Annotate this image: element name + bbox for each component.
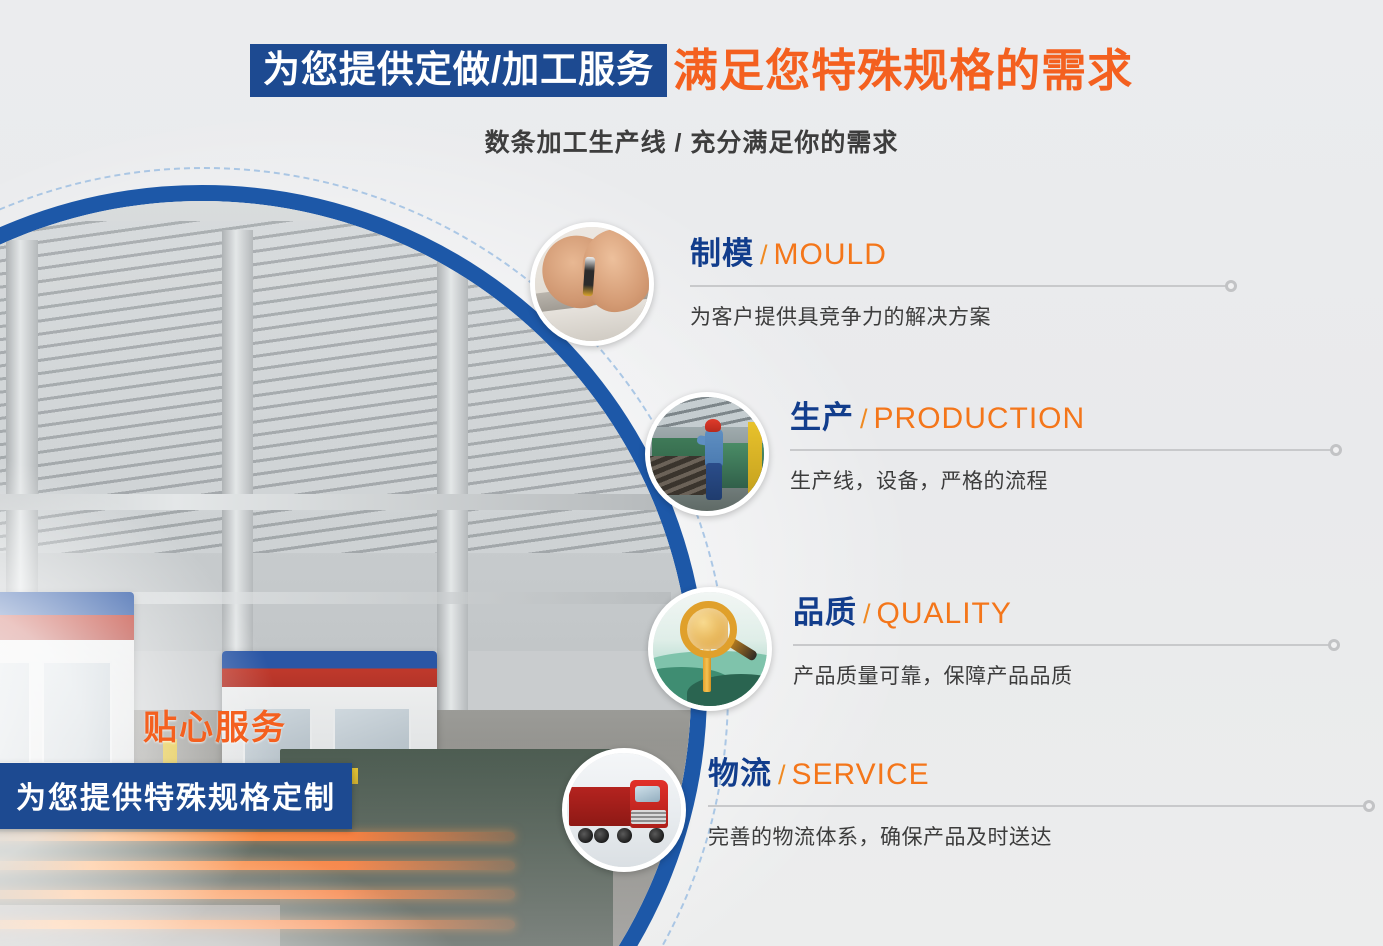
feature-title-cn: 物流 xyxy=(708,756,772,791)
thumb-shape xyxy=(748,422,762,493)
feature-heading: 生产/PRODUCTION xyxy=(790,402,1335,434)
feature-description: 为客户提供具竞争力的解决方案 xyxy=(690,301,1230,331)
feature-divider xyxy=(790,449,1335,451)
feature-heading: 品质/QUALITY xyxy=(793,597,1333,629)
feature-separator: / xyxy=(857,599,877,629)
factory-worker-icon xyxy=(645,392,769,516)
thumb-shape xyxy=(649,828,664,843)
feature-separator: / xyxy=(772,760,792,790)
thumb-shape xyxy=(706,463,722,499)
feature-separator: / xyxy=(854,404,874,434)
feature-title-cn: 品质 xyxy=(793,595,857,630)
thumb-shape xyxy=(569,787,632,826)
thumb-shape xyxy=(687,674,772,711)
feature-heading: 物流/SERVICE xyxy=(708,758,1368,790)
divider-end-dot-icon xyxy=(1225,280,1237,292)
feature-title-en: MOULD xyxy=(774,238,887,271)
feature-heading: 制模/MOULD xyxy=(690,238,1230,270)
feature-description: 生产线，设备，严格的流程 xyxy=(790,465,1335,495)
feature-body: 制模/MOULD 为客户提供具竞争力的解决方案 xyxy=(690,238,1230,331)
thumb-shape xyxy=(705,429,723,468)
service-badge: 贴心服务 为您提供特殊规格定制 xyxy=(0,700,420,829)
feature-title-en: PRODUCTION xyxy=(874,402,1086,435)
feature-divider xyxy=(708,805,1368,807)
feature-body: 生产/PRODUCTION 生产线，设备，严格的流程 xyxy=(790,402,1335,495)
feature-title-cn: 制模 xyxy=(690,236,754,271)
feature-separator: / xyxy=(754,240,774,270)
service-ribbon: 为您提供特殊规格定制 xyxy=(0,763,352,829)
thumb-shape xyxy=(705,419,721,433)
divider-end-dot-icon xyxy=(1330,444,1342,456)
feature-title-en: QUALITY xyxy=(877,597,1012,630)
production-thumbnail xyxy=(650,397,764,511)
feature-description: 完善的物流体系，确保产品及时送达 xyxy=(708,821,1368,851)
mould-thumbnail xyxy=(535,227,649,341)
feature-divider xyxy=(690,285,1230,287)
logistics-thumbnail xyxy=(567,753,681,867)
divider-end-dot-icon xyxy=(1363,800,1375,812)
service-title: 贴心服务 xyxy=(10,700,420,749)
feature-divider xyxy=(793,644,1333,646)
divider-end-dot-icon xyxy=(1328,639,1340,651)
thumb-shape xyxy=(680,601,737,658)
thumb-shape xyxy=(594,828,609,843)
feature-body: 品质/QUALITY 产品质量可靠，保障产品品质 xyxy=(793,597,1333,690)
feature-title-en: SERVICE xyxy=(792,758,930,791)
thumb-shape xyxy=(578,828,593,843)
quality-thumbnail xyxy=(653,592,767,706)
thumb-shape xyxy=(631,810,666,824)
magnifier-quality-icon xyxy=(648,587,772,711)
thumb-shape xyxy=(650,456,713,495)
promo-banner: 为您提供定做/加工服务 满足您特殊规格的需求 数条加工生产线 / 充分满足你的需… xyxy=(0,0,1383,946)
thumb-shape xyxy=(617,828,632,843)
feature-description: 产品质量可靠，保障产品品质 xyxy=(793,660,1333,690)
delivery-truck-icon xyxy=(562,748,686,872)
thumb-shape xyxy=(635,786,660,802)
feature-title-cn: 生产 xyxy=(790,400,854,435)
feature-body: 物流/SERVICE 完善的物流体系，确保产品及时送达 xyxy=(708,758,1368,851)
hand-scriber-icon xyxy=(530,222,654,346)
